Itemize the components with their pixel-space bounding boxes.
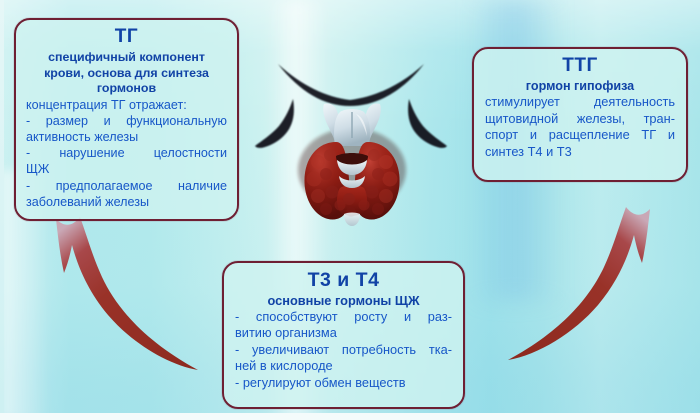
box-tg-line-3: активность железы <box>26 129 227 145</box>
box-t34-line-5: - регулируют обмен веществ <box>235 375 452 391</box>
box-tg-line-7: заболеваний железы <box>26 194 227 210</box>
box-ttg-title: ТТГ <box>485 55 675 77</box>
info-box-ttg: ТТГ гормон гипофиза стимулирует деятельн… <box>472 47 688 182</box>
box-ttg-line-3: спорт и расщепление ТГ и <box>485 127 675 144</box>
arrow-ttg-to-t34 <box>468 205 658 390</box>
box-tg-title: ТГ <box>26 26 227 48</box>
neck-muscle-left-outline <box>255 99 294 148</box>
background-edge-left <box>0 0 4 420</box>
box-t34-line-1: - способствуют росту и раз- <box>235 309 452 325</box>
box-t34-subtitle-line-1: основные гормоны ЩЖ <box>235 293 452 309</box>
box-t34-line-4: ней в кислороде <box>235 358 452 374</box>
arrow-tg-to-t34 <box>48 215 238 395</box>
box-t34-line-3: - увеличивают потребность тка- <box>235 342 452 358</box>
box-ttg-line-2: щитовидной железы, тран- <box>485 111 675 128</box>
box-ttg-subtitle-line-1: гормон гипофиза <box>485 78 675 94</box>
box-tg-line-5: ЩЖ <box>26 161 227 177</box>
box-ttg-line-4: синтез Т4 и Т3 <box>485 144 675 161</box>
info-box-tg: ТГ специфичный компонент крови, основа д… <box>14 18 239 221</box>
box-t34-title: Т3 и Т4 <box>235 269 452 292</box>
background-edge-bottom <box>0 413 700 420</box>
box-tg-subtitle-line-3: гормонов <box>26 81 227 97</box>
box-t34-line-2: витию организма <box>235 325 452 341</box>
box-tg-subtitle-line-1: специфичный компонент <box>26 50 227 66</box>
infographic-poster: ТГ специфичный компонент крови, основа д… <box>0 0 700 420</box>
jaw-outline-icon <box>278 64 424 106</box>
box-tg-line-1: концентрация ТГ отражает: <box>26 97 227 113</box>
info-box-t3-t4: Т3 и Т4 основные гормоны ЩЖ - способству… <box>222 261 465 409</box>
box-tg-line-2: - размер и функциональную <box>26 113 227 129</box>
box-tg-subtitle-line-2: крови, основа для синтеза <box>26 66 227 82</box>
thyroid-gland-illustration <box>252 42 452 242</box>
box-tg-line-4: - нарушение целостности <box>26 145 227 161</box>
box-ttg-line-1: стимулирует деятельность <box>485 94 675 111</box>
box-tg-line-6: - предполагаемое наличие <box>26 178 227 194</box>
neck-muscle-right-outline <box>408 99 447 148</box>
